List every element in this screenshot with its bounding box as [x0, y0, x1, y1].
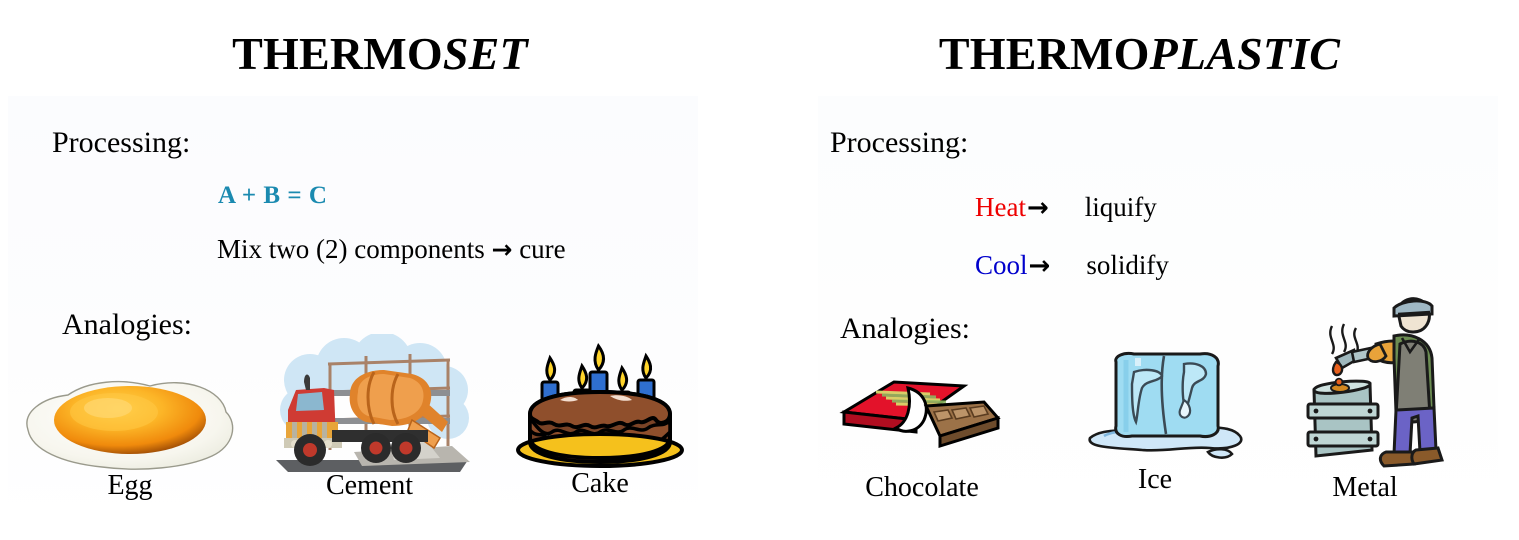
- analogy-item-chocolate: Chocolate: [822, 372, 1022, 492]
- processing-row-cool: Cool → solidify: [975, 250, 1169, 281]
- melting-ice-cube-icon: [1080, 348, 1250, 466]
- thermoplastic-processing-label: Processing:: [830, 126, 968, 160]
- thermoset-analogies-label: Analogies:: [62, 308, 192, 342]
- thermoset-title: THERMOSET: [0, 28, 760, 80]
- thermoset-mix-text-before: Mix two (2) components: [217, 234, 485, 264]
- analogy-caption-ice: Ice: [1060, 464, 1250, 496]
- metal-pouring-worker-icon: [1288, 296, 1453, 484]
- thermoplastic-title: THERMOPLASTIC: [760, 28, 1519, 80]
- thermoset-title-part1: THERMO: [232, 28, 443, 79]
- thermoplastic-column: THERMOPLASTIC Processing: Heat → liquify…: [760, 0, 1519, 540]
- cement-mixer-truck-icon: [262, 334, 477, 476]
- analogy-caption-cake: Cake: [500, 468, 700, 500]
- analogy-item-ice: Ice: [1060, 348, 1250, 488]
- right-arrow-icon: →: [491, 235, 512, 264]
- cool-label: Cool: [975, 250, 1028, 280]
- thermoplastic-title-part1: THERMO: [939, 28, 1150, 79]
- analogy-caption-chocolate: Chocolate: [822, 472, 1022, 504]
- analogy-caption-cement: Cement: [262, 470, 477, 502]
- birthday-cake-icon: [500, 334, 700, 474]
- thermoplastic-title-part2: PLASTIC: [1150, 28, 1341, 79]
- heat-label: Heat: [975, 192, 1026, 222]
- analogy-item-cake: Cake: [500, 334, 700, 482]
- analogy-caption-egg: Egg: [10, 470, 250, 502]
- thermoset-mix-text-after: cure: [519, 234, 565, 264]
- thermoset-processing-label: Processing:: [52, 126, 190, 160]
- thermoset-title-part2: SET: [443, 28, 528, 79]
- analogy-item-metal: Metal: [1270, 296, 1460, 486]
- analogy-item-cement: Cement: [262, 334, 477, 479]
- thermoset-mix-line: Mix two (2) components → cure: [217, 234, 566, 265]
- thermoplastic-analogies-label: Analogies:: [840, 312, 970, 346]
- thermoset-equation: A + B = C: [218, 182, 327, 210]
- slide-canvas: THERMOSET Processing: A + B = C Mix two …: [0, 0, 1519, 540]
- thermoset-column: THERMOSET Processing: A + B = C Mix two …: [0, 0, 760, 540]
- processing-row-heat: Heat → liquify: [975, 192, 1157, 223]
- right-arrow-icon: →: [1027, 193, 1049, 223]
- cool-result-label: solidify: [1086, 250, 1169, 280]
- heat-result-label: liquify: [1085, 192, 1157, 222]
- fried-egg-icon: [10, 368, 250, 473]
- right-arrow-icon: →: [1029, 251, 1051, 281]
- analogy-caption-metal: Metal: [1270, 472, 1460, 504]
- chocolate-bar-icon: [830, 372, 1010, 464]
- analogy-item-egg: Egg: [10, 368, 250, 478]
